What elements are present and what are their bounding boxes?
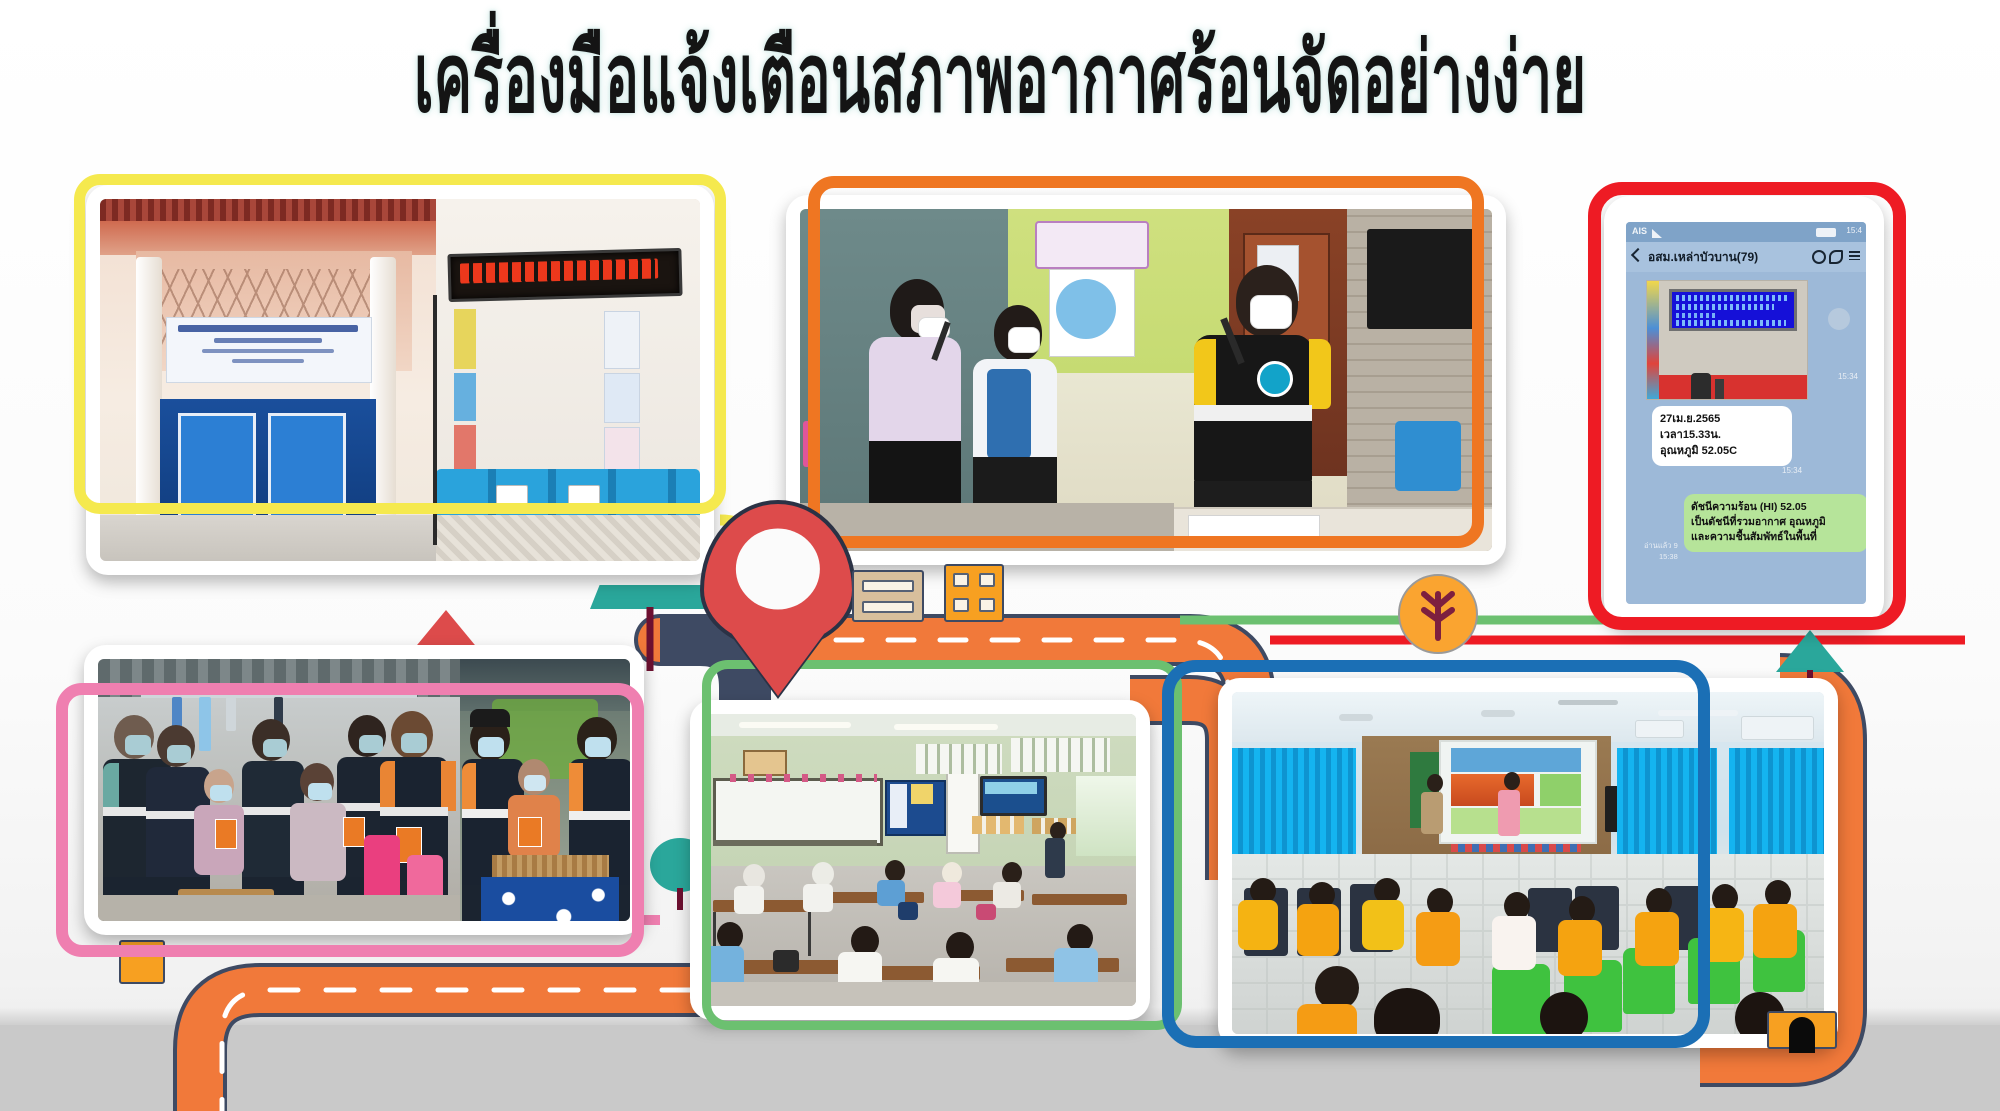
signal-icon bbox=[1652, 229, 1662, 238]
device-photo bbox=[1646, 280, 1808, 400]
bubble-right-read: อ่านแล้ว 915:38 bbox=[1644, 540, 1678, 561]
photo-card-health-center[interactable] bbox=[86, 185, 714, 575]
building-tan-icon bbox=[852, 570, 924, 622]
photo-card-classroom[interactable] bbox=[690, 700, 1150, 1020]
carrier-label: AIS bbox=[1632, 226, 1647, 236]
battery-icon bbox=[1816, 228, 1836, 237]
status-time: 15:4 bbox=[1846, 226, 1862, 235]
photo-card-line-chat[interactable]: AIS 15:4 อสม.เหล่าบัวบาน(79) bbox=[1604, 196, 1884, 626]
photo-health-center bbox=[100, 199, 700, 561]
chat-bubble-left: 27เม.ย.2565เวลา15.33น.อุณหภูมิ 52.05C bbox=[1652, 406, 1792, 466]
page-title: เครื่องมือแจ้งเตือนสภาพอากาศร้อนจัดอย่าง… bbox=[414, 24, 1586, 132]
poster-canvas: เครื่องมือแจ้งเตือนสภาพอากาศร้อนจัดอย่าง… bbox=[0, 0, 2000, 1111]
phone-icon[interactable] bbox=[1829, 250, 1843, 264]
road-fill-bl bbox=[200, 990, 700, 1111]
share-icon[interactable] bbox=[1828, 308, 1850, 330]
building-door-icon bbox=[1767, 1011, 1837, 1049]
photo-students-presenting bbox=[800, 209, 1492, 551]
image-timestamp: 15:34 bbox=[1838, 372, 1858, 381]
tree-branch-icon bbox=[1400, 576, 1476, 652]
photo-community-meeting bbox=[1232, 692, 1824, 1034]
photo-card-community-meeting[interactable] bbox=[1218, 678, 1838, 1048]
photo-card-home-visit[interactable] bbox=[84, 645, 644, 935]
page-title-container: เครื่องมือแจ้งเตือนสภาพอากาศร้อนจัดอย่าง… bbox=[0, 24, 2000, 93]
building-small-orange-icon bbox=[119, 940, 165, 984]
photo-classroom bbox=[704, 714, 1136, 1006]
chat-title: อสม.เหล่าบัวบาน(79) bbox=[1648, 248, 1758, 267]
search-icon[interactable] bbox=[1812, 250, 1826, 264]
building-orange-icon bbox=[944, 564, 1004, 622]
bubble-left-time: 15:34 bbox=[1782, 466, 1802, 475]
photo-line-chat: AIS 15:4 อสม.เหล่าบัวบาน(79) bbox=[1626, 222, 1866, 604]
map-pin-icon bbox=[700, 500, 856, 650]
photo-card-students-presenting[interactable] bbox=[786, 195, 1506, 565]
hamburger-menu-icon[interactable] bbox=[1849, 251, 1860, 260]
lcd-display bbox=[1669, 289, 1797, 331]
chat-bubble-right: ดัชนีความร้อน (HI) 52.05เป็นดัชนีที่รวมอ… bbox=[1684, 494, 1866, 552]
tree-circle-icon bbox=[1398, 574, 1478, 654]
photo-home-visit bbox=[98, 659, 630, 921]
